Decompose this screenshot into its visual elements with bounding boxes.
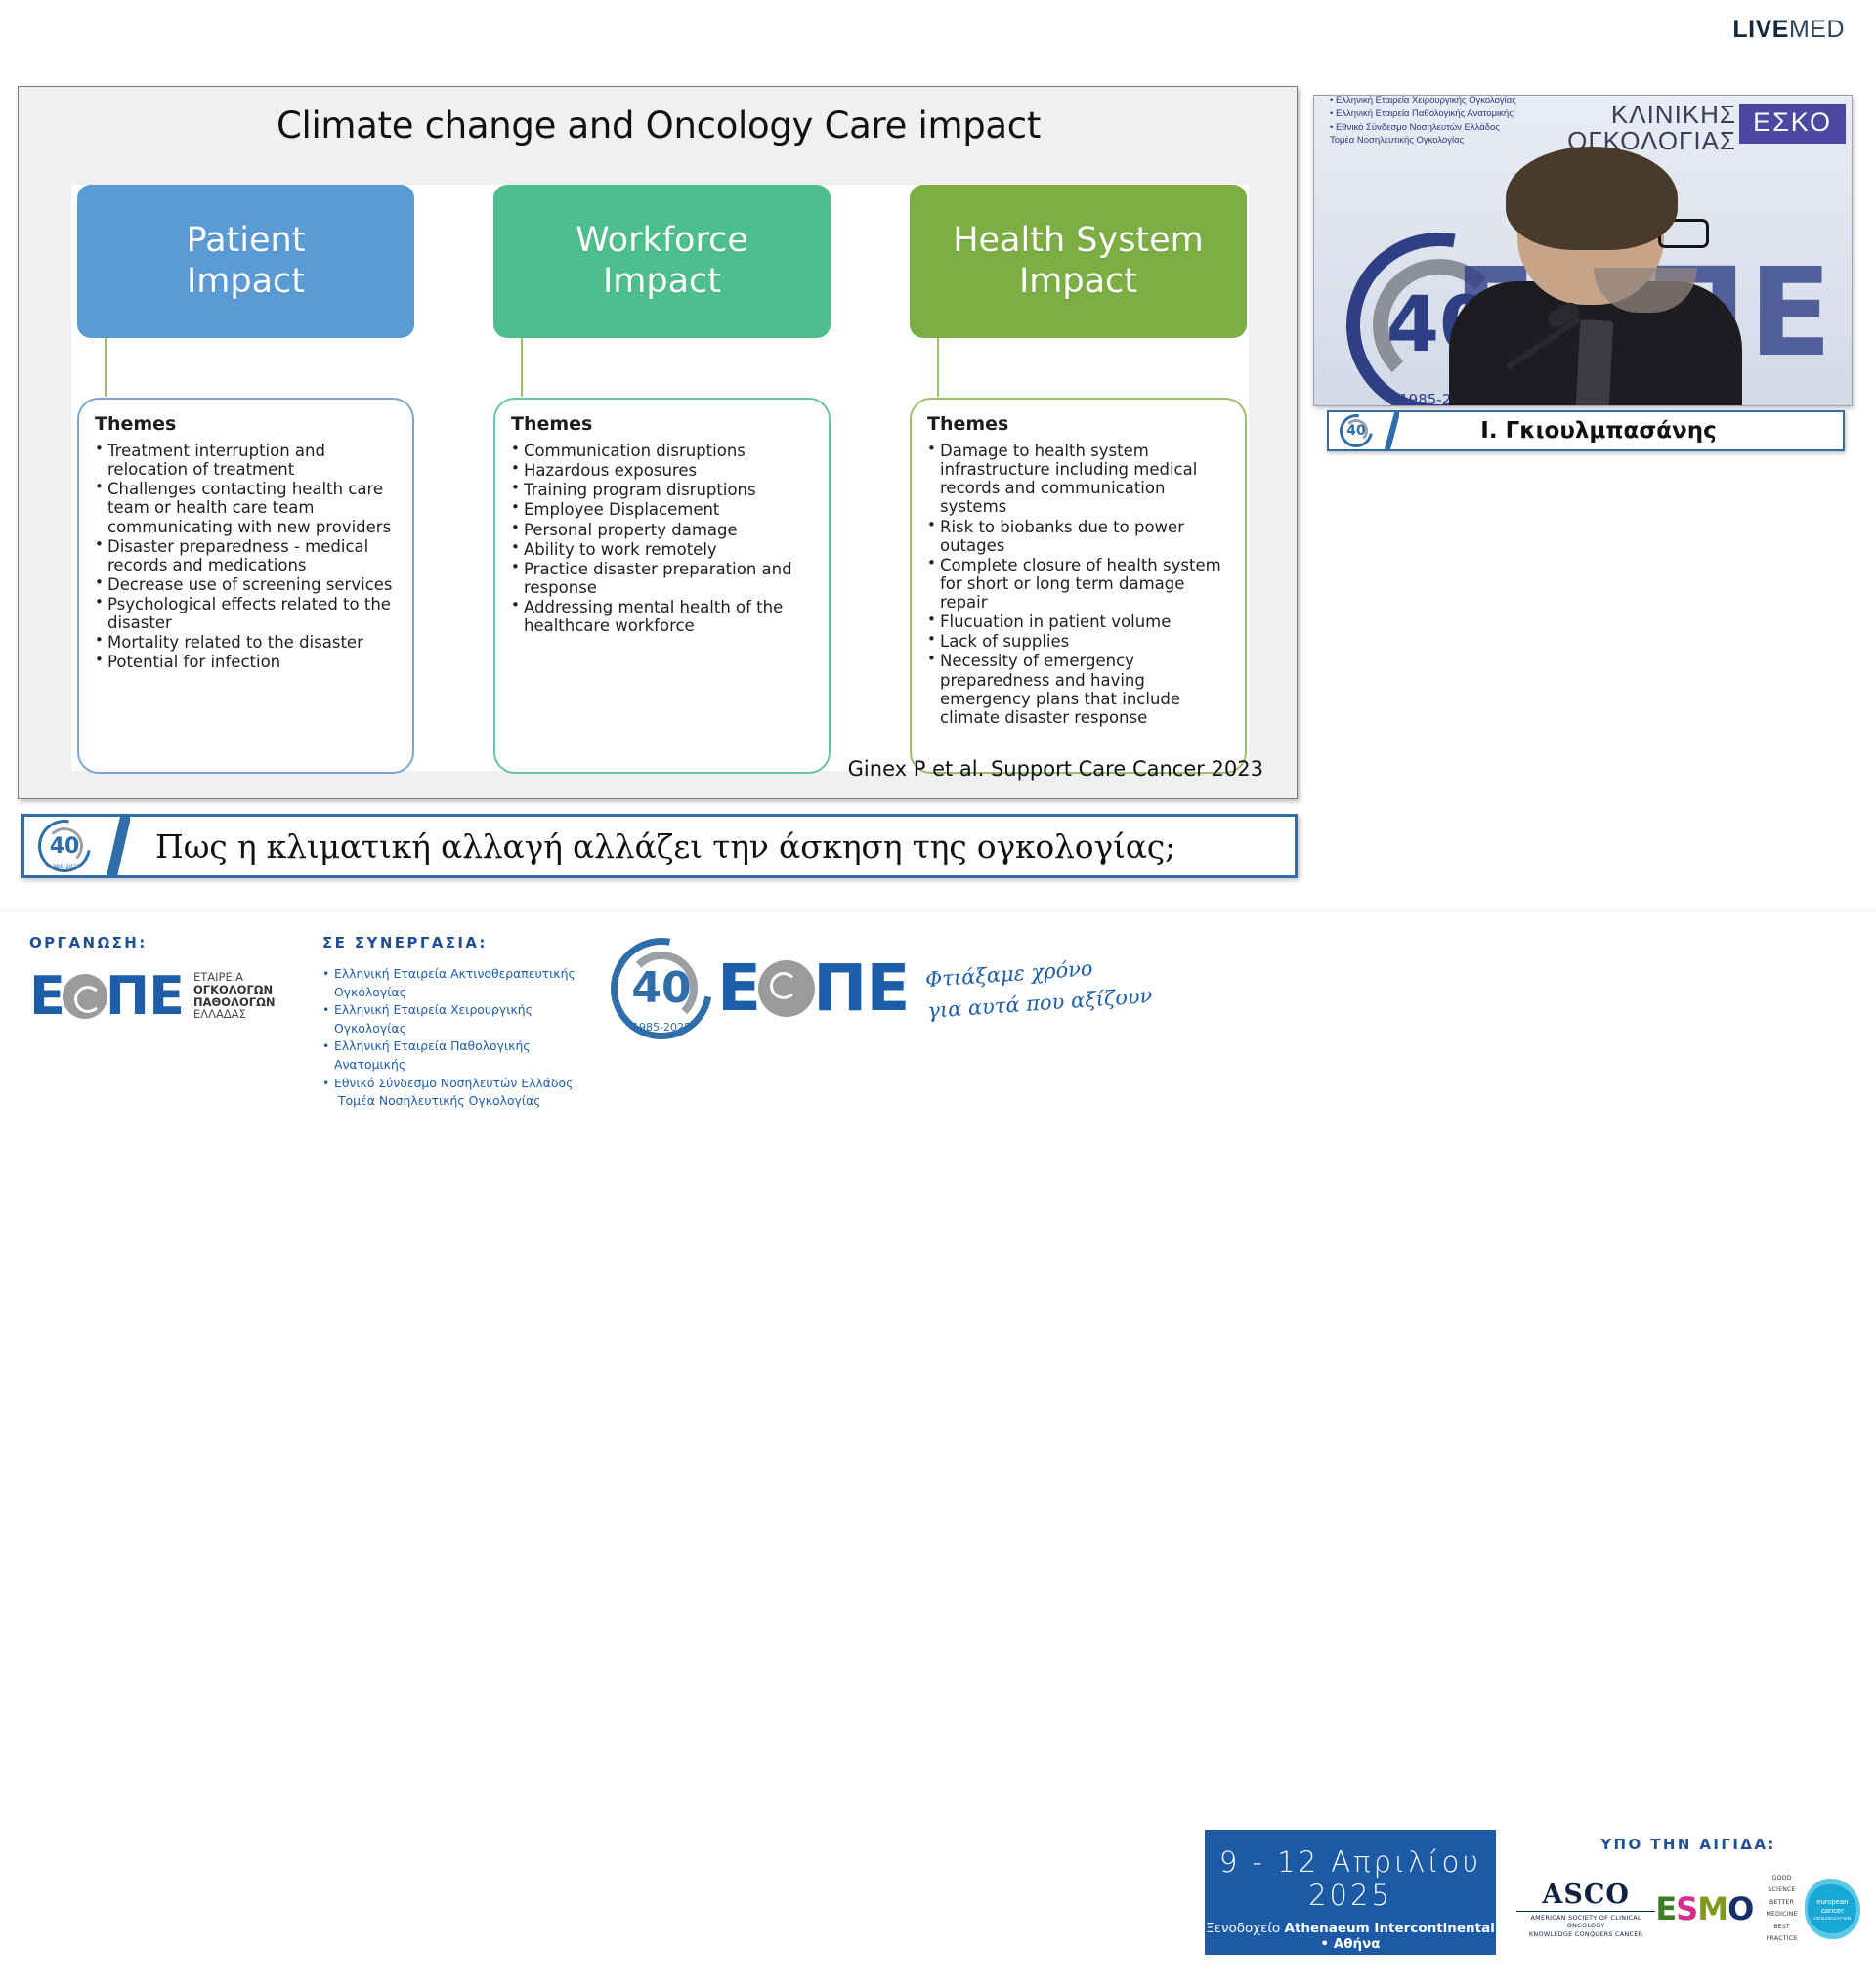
- list-item: Flucuation in patient volume: [927, 613, 1229, 631]
- list-item: Risk to biobanks due to power outages: [927, 518, 1229, 555]
- themes-heading: Themes: [511, 413, 813, 435]
- connector-line: [105, 338, 107, 397]
- impact-column-health-system: Health System Impact Themes Damage to he…: [910, 185, 1261, 338]
- list-item: Decrease use of screening services: [95, 575, 397, 594]
- list-item: Ελληνική Εταιρεία Ακτινοθεραπευτικής Ογκ…: [322, 965, 596, 1001]
- aegis-logo-row: ASCO AMERICAN SOCIETY OF CLINICAL ONCOLO…: [1513, 1873, 1864, 1945]
- eope-letters-pe: ΠΕ: [106, 965, 184, 1027]
- congress-date-box[interactable]: 9 - 12 Απριλίου 2025 Ξενοδοχείο Athenaeu…: [1205, 1830, 1496, 1955]
- eope-sub-line4: ΕΛΛΑΔΑΣ: [193, 1008, 275, 1021]
- eope-subtitle: ΕΤΑΙΡΕΙΑ ΟΓΚΟΛΟΓΩΝ ΠΑΘΟΛΟΓΩΝ ΕΛΛΑΔΑΣ: [193, 971, 275, 1022]
- anniversary-years: 1985-2025: [38, 864, 91, 870]
- esmo-logo: ESMO GOOD SCIENCE BETTER MEDICINE BEST P…: [1655, 1873, 1804, 1945]
- spiral-icon: [63, 974, 107, 1019]
- themes-list-patient: Treatment interruption and relocation of…: [95, 442, 397, 672]
- backdrop-title-line1: ΚΛΙΝΙΚΗΣ: [1567, 102, 1736, 128]
- session-title-bar: 40 1985-2025 Πως η κλιματική αλλαγή αλλά…: [21, 814, 1298, 878]
- eope-wordmark: E ΠΕ: [29, 965, 184, 1027]
- anniversary-ring: 40: [1340, 414, 1373, 447]
- backdrop-esko-badge: ΕΣΚΟ: [1739, 104, 1846, 144]
- list-item: Psychological effects related to the dis…: [95, 595, 397, 632]
- impact-column-patient: Patient Impact Themes Treatment interrup…: [77, 185, 429, 338]
- list-item: Training program disruptions: [511, 481, 813, 499]
- congress-website[interactable]: www.esko2025.gr: [1205, 1958, 1496, 1988]
- livemed-live-text: LIVE: [1732, 16, 1789, 43]
- venue-name: Athenaeum Intercontinental • Αθήνα: [1285, 1921, 1495, 1952]
- anniversary-logo: 40 1985-2025: [604, 937, 719, 1039]
- eope-wordmark: E ΠΕ: [717, 951, 909, 1026]
- column-header-line2: Impact: [187, 262, 305, 302]
- anniversary-number: 40: [1340, 414, 1373, 447]
- esmo-tagline-3: BEST PRACTICE: [1759, 1922, 1805, 1946]
- session-title-text: Πως η κλιματική αλλαγή αλλάζει την άσκησ…: [130, 827, 1295, 866]
- esmo-letter-e: E: [1655, 1890, 1676, 1927]
- themes-list-health-system: Damage to health system infrastructure i…: [927, 442, 1229, 727]
- eope-letters-pe: ΠΕ: [813, 951, 909, 1026]
- list-item: Potential for infection: [95, 653, 397, 671]
- column-header-line1: Patient: [187, 221, 306, 261]
- list-item: Employee Displacement: [511, 500, 813, 519]
- esmo-taglines: GOOD SCIENCE BETTER MEDICINE BEST PRACTI…: [1759, 1873, 1805, 1945]
- list-item: Practice disaster preparation and respon…: [511, 560, 813, 597]
- venue-prefix: Ξενοδοχείο: [1206, 1921, 1284, 1936]
- bar-slash-decoration: [105, 817, 130, 875]
- connector-line: [521, 338, 523, 397]
- backdrop-society-item: • Εθνικό Σύνδεσμο Νοσηλευτών Ελλάδος: [1330, 121, 1516, 135]
- eope-letter-e: E: [29, 965, 64, 1027]
- list-item: Damage to health system infrastructure i…: [927, 442, 1229, 517]
- list-item: Ελληνική Εταιρεία Παθολογικής Ανατομικής: [322, 1037, 596, 1074]
- list-item: Lack of supplies: [927, 632, 1229, 651]
- eco-line3: ORGANISATION: [1813, 1916, 1851, 1921]
- spiral-icon: [758, 960, 815, 1017]
- list-item-line1: Εθνικό Σύνδεσμο Νοσηλευτών Ελλάδος: [334, 1076, 573, 1090]
- speaker-name: Ι. Γκιουλμπασάνης: [1399, 418, 1843, 444]
- themes-heading: Themes: [95, 413, 397, 435]
- slide-content: Patient Impact Themes Treatment interrup…: [71, 185, 1249, 771]
- list-item: Hazardous exposures: [511, 461, 813, 480]
- footer-organization: ΟΡΓΑΝΩΣΗ: E ΠΕ ΕΤΑΙΡΕΙΑ ΟΓΚΟΛΟΓΩΝ ΠΑΘΟΛΟ…: [29, 934, 322, 1027]
- anniversary-years: 1985-2025: [611, 1021, 712, 1034]
- asco-name: ASCO: [1516, 1880, 1655, 1910]
- list-item-line2: Τομέα Νοσηλευτικής Ογκολογίας: [334, 1092, 596, 1111]
- speaker-name-bar: 40 Ι. Γκιουλμπασάνης: [1327, 410, 1845, 451]
- column-header-line1: Health System: [953, 221, 1204, 261]
- speaker-hair: [1506, 147, 1678, 250]
- list-item: Personal property damage: [511, 521, 813, 539]
- footer-main-logo: 40 1985-2025 E ΠΕ Φτιάξαμε χρόνο για αυτ…: [604, 937, 1190, 1039]
- congress-dates: 9 - 12 Απριλίου 2025: [1205, 1845, 1496, 1912]
- backdrop-society-item: • Ελληνική Εταιρεία Παθολογικής Ανατομικ…: [1330, 107, 1516, 121]
- anniversary-ring: 40 1985-2025: [611, 938, 712, 1039]
- column-header-line1: Workforce: [576, 221, 748, 261]
- eope-letter-e: E: [717, 951, 760, 1026]
- list-item: Ελληνική Εταιρεία Χειρουργικής Ογκολογία…: [322, 1001, 596, 1037]
- esmo-tagline-2: BETTER MEDICINE: [1759, 1897, 1805, 1922]
- column-header-patient: Patient Impact: [77, 185, 414, 338]
- impact-column-workforce: Workforce Impact Themes Communication di…: [493, 185, 845, 338]
- list-item: Ability to work remotely: [511, 540, 813, 559]
- speaker-name-bar-wrapper: 40 Ι. Γκιουλμπασάνης: [1327, 410, 1876, 451]
- themes-card-patient: Themes Treatment interruption and reloca…: [77, 398, 414, 774]
- themes-list-workforce: Communication disruptions Hazardous expo…: [511, 442, 813, 635]
- speaker-video[interactable]: • Ελληνική Εταιρεία Χειρουργικής Ογκολογ…: [1313, 95, 1853, 406]
- anniversary-ring: 40 1985-2025: [38, 820, 91, 872]
- list-item: Necessity of emergency preparedness and …: [927, 652, 1229, 727]
- slide-citation: Ginex P et al. Support Care Cancer 2023: [848, 757, 1263, 781]
- eope-sub-line1: ΕΤΑΙΡΕΙΑ: [193, 971, 275, 984]
- column-header-health-system: Health System Impact: [910, 185, 1247, 338]
- list-item: Communication disruptions: [511, 442, 813, 460]
- column-header-line2: Impact: [1019, 262, 1137, 302]
- eope-logo: E ΠΕ ΕΤΑΙΡΕΙΑ ΟΓΚΟΛΟΓΩΝ ΠΑΘΟΛΟΓΩΝ ΕΛΛΑΔΑ…: [29, 965, 322, 1027]
- livemed-med-text: MED: [1789, 16, 1845, 43]
- congress-venue: Ξενοδοχείο Athenaeum Intercontinental • …: [1205, 1921, 1496, 1952]
- cooperation-title: ΣΕ ΣΥΝΕΡΓΑΣΙΑ:: [322, 934, 596, 952]
- eope-anniversary-icon: 40: [1329, 412, 1384, 449]
- backdrop-society-item: • Ελληνική Εταιρεία Χειρουργικής Ογκολογ…: [1330, 95, 1516, 107]
- footer-cooperation: ΣΕ ΣΥΝΕΡΓΑΣΙΑ: Ελληνική Εταιρεία Ακτινοθ…: [322, 934, 596, 1111]
- speaker-figure: [1463, 152, 1725, 406]
- asco-tagline-2: KNOWLEDGE CONQUERS CANCER: [1516, 1930, 1655, 1938]
- themes-card-workforce: Themes Communication disruptions Hazardo…: [493, 398, 831, 774]
- list-item: Mortality related to the disaster: [95, 633, 397, 652]
- presentation-slide[interactable]: Climate change and Oncology Care impact …: [18, 86, 1298, 799]
- eope-sub-line2: ΟΓΚΟΛΟΓΩΝ: [193, 984, 275, 996]
- list-item: Complete closure of health system for sh…: [927, 556, 1229, 612]
- footer-aegis: ΥΠΟ ΤΗΝ ΑΙΓΙΔΑ: ASCO AMERICAN SOCIETY OF…: [1513, 1836, 1864, 1945]
- slide-title: Climate change and Oncology Care impact: [19, 105, 1299, 147]
- backdrop-society-item: Τομέα Νοσηλευτικής Ογκολογίας: [1330, 134, 1516, 148]
- organization-title: ΟΡΓΑΝΩΣΗ:: [29, 934, 322, 952]
- list-item: Disaster preparedness - medical records …: [95, 537, 397, 574]
- bar-slash-decoration: [1384, 412, 1399, 449]
- connector-line: [937, 338, 939, 397]
- list-item: Treatment interruption and relocation of…: [95, 442, 397, 479]
- eco-line2: cancer: [1821, 1906, 1844, 1915]
- column-header-workforce: Workforce Impact: [493, 185, 831, 338]
- livemed-logo: LIVEMED: [1732, 16, 1845, 44]
- asco-logo: ASCO AMERICAN SOCIETY OF CLINICAL ONCOLO…: [1516, 1880, 1655, 1938]
- backdrop-society-list: • Ελληνική Εταιρεία Χειρουργικής Ογκολογ…: [1330, 95, 1516, 148]
- footer: ΟΡΓΑΝΩΣΗ: E ΠΕ ΕΤΑΙΡΕΙΑ ΟΓΚΟΛΟΓΩΝ ΠΑΘΟΛΟ…: [0, 909, 1876, 1055]
- eope-tagline: Φτιάξαμε χρόνο για αυτά που αξίζουν: [925, 950, 1154, 1027]
- aegis-title: ΥΠΟ ΤΗΝ ΑΙΓΙΔΑ:: [1513, 1836, 1864, 1853]
- list-item: Challenges contacting health care team o…: [95, 480, 397, 535]
- eco-inner-shape: european cancer ORGANISATION: [1808, 1884, 1856, 1933]
- column-header-line2: Impact: [603, 262, 721, 302]
- themes-heading: Themes: [927, 413, 1229, 435]
- esmo-tagline-1: GOOD SCIENCE: [1759, 1873, 1805, 1897]
- list-item: Εθνικό Σύνδεσμο Νοσηλευτών ΕλλάδοςΤομέα …: [322, 1075, 596, 1111]
- eco-line1: european: [1816, 1897, 1848, 1906]
- themes-card-health-system: Themes Damage to health system infrastru…: [910, 398, 1247, 774]
- eope-anniversary-icon: 40 1985-2025: [24, 817, 105, 875]
- esmo-wordmark: ESMO: [1655, 1890, 1753, 1927]
- cooperation-list: Ελληνική Εταιρεία Ακτινοθεραπευτικής Ογκ…: [322, 965, 596, 1111]
- asco-tagline-1: AMERICAN SOCIETY OF CLINICAL ONCOLOGY: [1516, 1911, 1655, 1929]
- european-cancer-organisation-logo: european cancer ORGANISATION: [1805, 1879, 1860, 1939]
- esmo-letter-m: M: [1697, 1890, 1727, 1927]
- esmo-letter-o: O: [1727, 1890, 1753, 1927]
- esmo-letter-s: S: [1676, 1890, 1697, 1927]
- list-item: Addressing mental health of the healthca…: [511, 598, 813, 635]
- top-bar: LIVEMED: [0, 0, 1876, 57]
- speaker-tie: [1576, 319, 1614, 406]
